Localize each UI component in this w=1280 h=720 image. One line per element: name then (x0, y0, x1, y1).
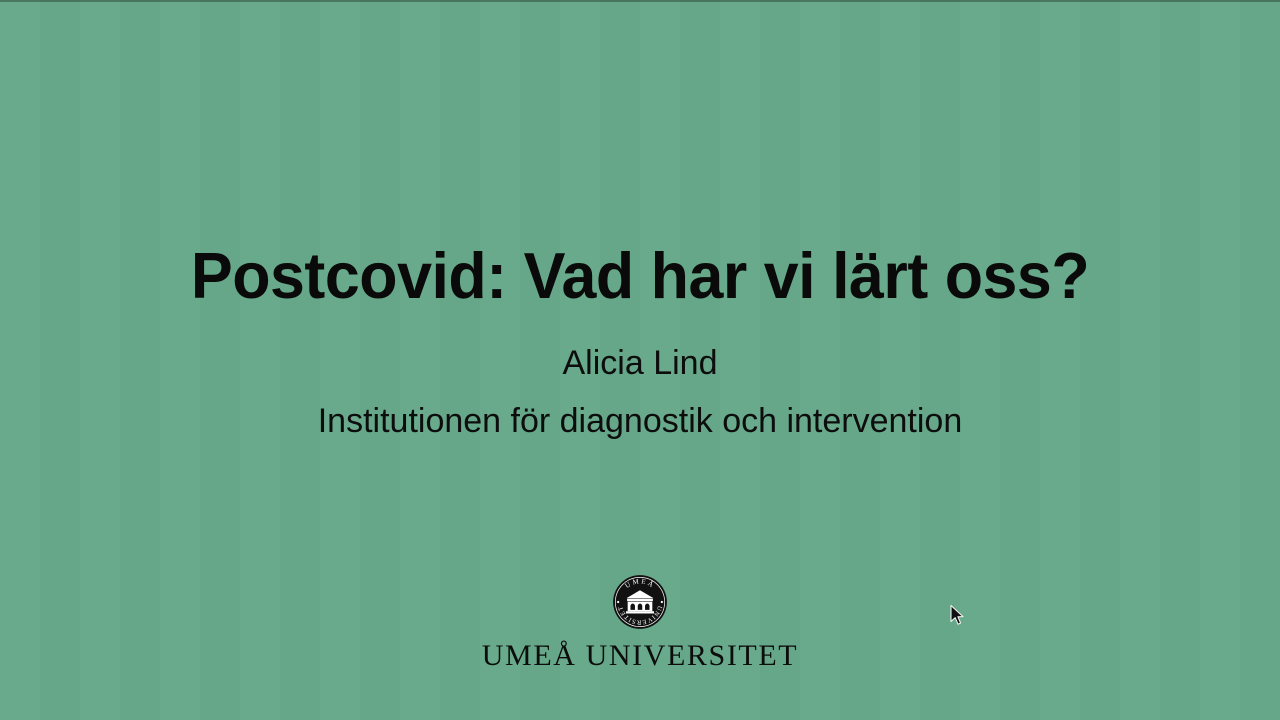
presenter-name: Alicia Lind (0, 345, 1280, 382)
umea-university-seal-icon: UMEÅ UNIVERSITET (612, 574, 668, 630)
slide-content: Postcovid: Vad har vi lärt oss? Alicia L… (0, 0, 1280, 720)
presenter-affiliation: Institutionen för diagnostik och interve… (0, 403, 1280, 440)
presentation-slide: Postcovid: Vad har vi lärt oss? Alicia L… (0, 0, 1280, 720)
slide-title: Postcovid: Vad har vi lärt oss? (22, 243, 1257, 308)
university-wordmark: UMEÅ UNIVERSITET (482, 641, 798, 671)
university-logo: UMEÅ UNIVERSITET (0, 574, 1280, 671)
